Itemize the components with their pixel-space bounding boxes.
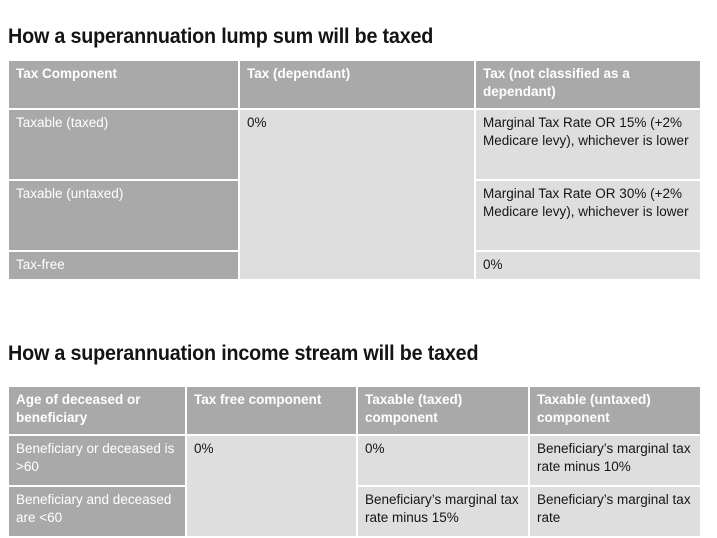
cell-taxable-taxed-component: Beneficiary’s marginal tax rate minus 15… — [358, 487, 528, 536]
table-header: Tax Component Tax (dependant) Tax (not c… — [9, 61, 700, 108]
column-header-taxable-taxed-component: Taxable (taxed) component — [358, 387, 528, 434]
column-header-taxable-untaxed-component: Taxable (untaxed) component — [530, 387, 700, 434]
cell-taxable-untaxed-component: Beneficiary’s marginal tax rate — [530, 487, 700, 536]
table-header-row: Age of deceased or beneficiary Tax free … — [9, 387, 700, 434]
document-page: How a superannuation lump sum will be ta… — [0, 0, 717, 532]
page-title-lump-sum: How a superannuation lump sum will be ta… — [8, 25, 433, 49]
lump-sum-tax-table: Tax Component Tax (dependant) Tax (not c… — [7, 59, 702, 281]
cell-tax-dependant-merged: 0% — [240, 110, 474, 279]
cell-tax-component: Tax-free — [9, 252, 238, 279]
income-stream-tax-table: Age of deceased or beneficiary Tax free … — [7, 385, 702, 538]
cell-tax-non-dependant: Marginal Tax Rate OR 15% (+2% Medicare l… — [476, 110, 700, 179]
page-title-income-stream: How a superannuation income stream will … — [8, 342, 478, 366]
table-header-row: Tax Component Tax (dependant) Tax (not c… — [9, 61, 700, 108]
cell-taxable-taxed-component: 0% — [358, 436, 528, 485]
table-row: Beneficiary or deceased is >60 0% 0% Ben… — [9, 436, 700, 485]
cell-tax-non-dependant: 0% — [476, 252, 700, 279]
cell-tax-free-component-merged: 0% — [187, 436, 356, 536]
cell-tax-non-dependant: Marginal Tax Rate OR 30% (+2% Medicare l… — [476, 181, 700, 250]
column-header-tax-free-component: Tax free component — [187, 387, 356, 434]
column-header-tax-non-dependant: Tax (not classified as a dependant) — [476, 61, 700, 108]
table-header: Age of deceased or beneficiary Tax free … — [9, 387, 700, 434]
cell-tax-component: Taxable (taxed) — [9, 110, 238, 179]
cell-taxable-untaxed-component: Beneficiary’s marginal tax rate minus 10… — [530, 436, 700, 485]
table-body: Beneficiary or deceased is >60 0% 0% Ben… — [9, 436, 700, 536]
column-header-age: Age of deceased or beneficiary — [9, 387, 185, 434]
column-header-tax-dependant: Tax (dependant) — [240, 61, 474, 108]
column-header-tax-component: Tax Component — [9, 61, 238, 108]
cell-age: Beneficiary or deceased is >60 — [9, 436, 185, 485]
cell-tax-component: Taxable (untaxed) — [9, 181, 238, 250]
cell-age: Beneficiary and deceased are <60 — [9, 487, 185, 536]
table-body: Taxable (taxed) 0% Marginal Tax Rate OR … — [9, 110, 700, 279]
table-row: Taxable (taxed) 0% Marginal Tax Rate OR … — [9, 110, 700, 179]
